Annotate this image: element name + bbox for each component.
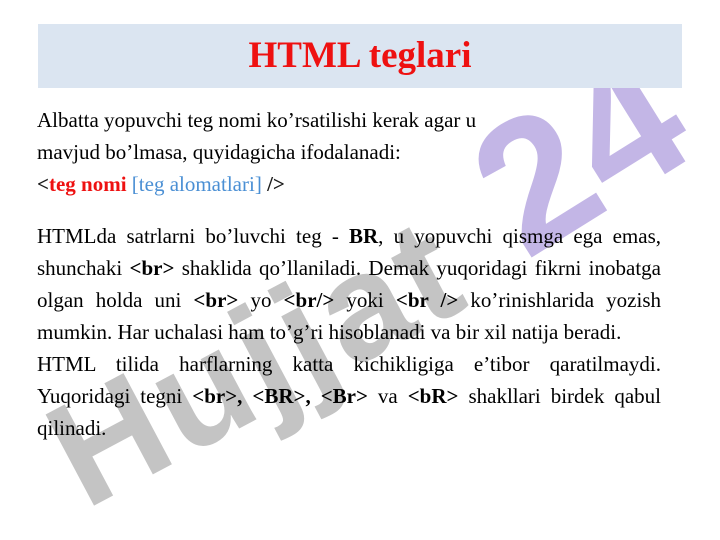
code-close-angle: /> [267,172,285,196]
p2-seg-7: yo [238,288,283,312]
paragraph-gap [37,200,661,220]
p2-seg-2-bold: BR [349,224,378,248]
p3-seg-4-bold: <bR> [408,384,459,408]
code-open-angle: < [37,172,49,196]
paragraph-intro-line2: mavjud bo’lmasa, quyidagicha ifodalanadi… [37,136,661,168]
paragraph-br-explanation: HTMLda satrlarni bo’luvchi teg - BR, u y… [37,220,661,348]
p2-seg-4-bold: <br> [129,256,174,280]
p2-seg-10-bold: <br /> [396,288,458,312]
p2-seg-9: yoki [334,288,396,312]
slide-body: Albatta yopuvchi teg nomi ko’rsatilishi … [37,104,661,444]
p2-seg-1: HTMLda satrlarni bo’luvchi teg - [37,224,349,248]
code-tag-name: teg nomi [49,172,127,196]
intro-line-2: mavjud bo’lmasa, quyidagicha ifodalanadi… [37,140,401,164]
p3-seg-2-bold: <br>, <BR>, <Br> [192,384,368,408]
intro-line-1: Albatta yopuvchi teg nomi ko’rsatilishi … [37,108,476,132]
p2-seg-6-bold: <br> [193,288,238,312]
code-attributes: [teg alomatlari] [127,172,268,196]
page-title: HTML teglari [38,28,682,84]
slide-canvas: Hujjat 24 HTML teglari Albatta yopuvchi … [0,0,720,540]
p2-seg-8-bold: <br/> [284,288,335,312]
paragraph-intro: Albatta yopuvchi teg nomi ko’rsatilishi … [37,104,661,136]
p3-seg-3: va [368,384,408,408]
paragraph-case-insensitivity: HTML tilida harflarning katta kichikligi… [37,348,661,444]
code-example-line: <teg nomi [teg alomatlari] /> [37,168,661,200]
